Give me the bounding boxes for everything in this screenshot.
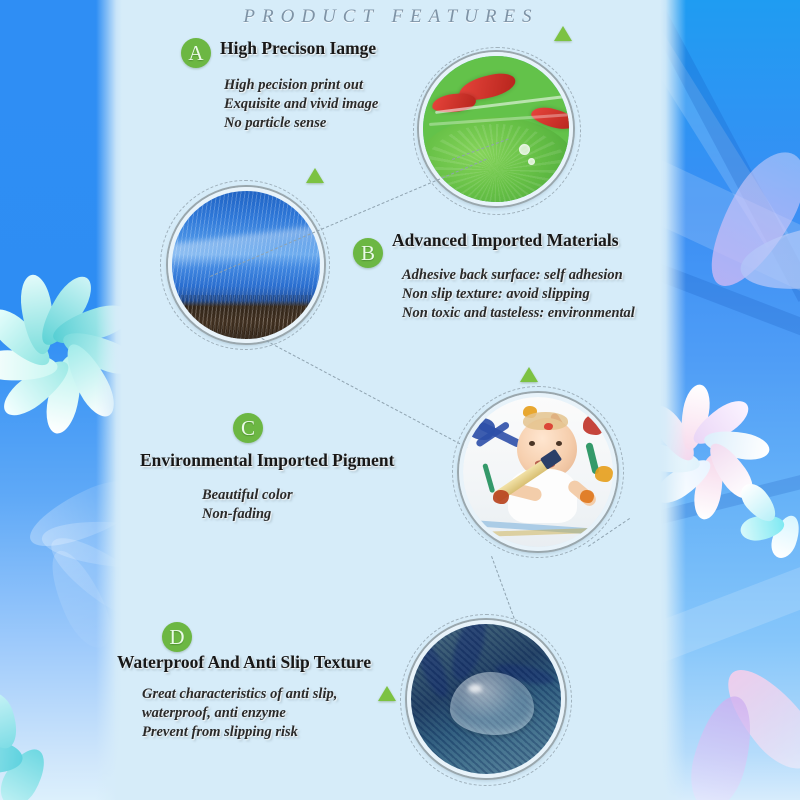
green-triangle-marker <box>306 168 324 183</box>
feature-lines-a: High pecision print out Exquisite and vi… <box>224 76 378 133</box>
right-edge-fade <box>660 0 686 800</box>
feature-line: Non toxic and tasteless: environmental <box>402 304 635 323</box>
feature-heading-c: Environmental Imported Pigment <box>140 450 394 471</box>
feature-badge-a-letter: A <box>181 38 211 68</box>
feature-photo-d <box>407 620 565 778</box>
feature-photo-a <box>419 52 573 206</box>
feature-badge-b-letter: B <box>353 238 383 268</box>
feature-line: Exquisite and vivid image <box>224 95 378 114</box>
feature-badge-b: B <box>353 238 383 268</box>
feature-heading-a: High Precison Iamge <box>220 38 376 59</box>
water-droplet-texture-photo <box>411 624 561 774</box>
green-triangle-marker <box>520 367 538 382</box>
feature-line: waterproof, anti enzyme <box>142 704 337 723</box>
feature-badge-d: D <box>162 622 192 652</box>
feature-heading-d: Waterproof And Anti Slip Texture <box>117 652 371 673</box>
feature-line: No particle sense <box>224 114 378 133</box>
feature-lines-d: Great characteristics of anti slip, wate… <box>142 685 337 742</box>
feature-badge-a: A <box>181 38 211 68</box>
feature-line: Prevent from slipping risk <box>142 723 337 742</box>
feature-badge-d-letter: D <box>162 622 192 652</box>
left-edge-fade <box>96 0 122 800</box>
green-triangle-marker <box>554 26 572 41</box>
feature-photo-b <box>168 187 324 343</box>
feature-lines-b: Adhesive back surface: self adhesion Non… <box>402 266 635 323</box>
feature-line: High pecision print out <box>224 76 378 95</box>
page-title: PRODUCT FEATURES <box>122 6 660 28</box>
blue-fabric-roll-photo <box>172 191 320 339</box>
content-panel: PRODUCT FEATURES A High Precison Iamge H… <box>122 0 660 800</box>
product-features-infographic: PRODUCT FEATURES A High Precison Iamge H… <box>0 0 800 800</box>
green-triangle-marker <box>378 686 396 701</box>
baby-painting-photo <box>463 397 613 547</box>
feature-badge-c: C <box>233 413 263 443</box>
feature-line: Non-fading <box>202 505 293 524</box>
feature-heading-b: Advanced Imported Materials <box>392 230 619 251</box>
feature-lines-c: Beautiful color Non-fading <box>202 486 293 524</box>
feature-line: Beautiful color <box>202 486 293 505</box>
feature-line: Great characteristics of anti slip, <box>142 685 337 704</box>
koi-fish-pond-photo <box>423 56 569 202</box>
feature-photo-c <box>459 393 617 551</box>
feature-line: Non slip texture: avoid slipping <box>402 285 635 304</box>
feature-line: Adhesive back surface: self adhesion <box>402 266 635 285</box>
feature-badge-c-letter: C <box>233 413 263 443</box>
